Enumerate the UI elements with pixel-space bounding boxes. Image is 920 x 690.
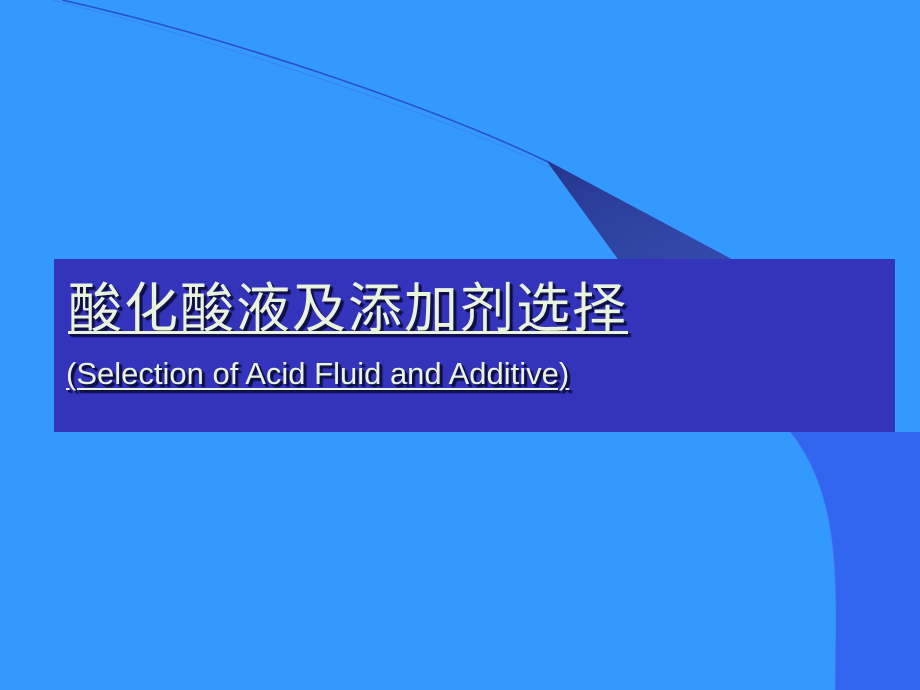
title-banner: 酸化酸液及添加剂选择 (Selection of Acid Fluid and … xyxy=(54,259,895,432)
right-band-filler xyxy=(895,240,920,432)
slide-title-chinese: 酸化酸液及添加剂选择 xyxy=(68,281,895,338)
presentation-slide: 酸化酸液及添加剂选择 (Selection of Acid Fluid and … xyxy=(0,0,920,690)
slide-subtitle-english: (Selection of Acid Fluid and Additive) xyxy=(66,358,895,391)
